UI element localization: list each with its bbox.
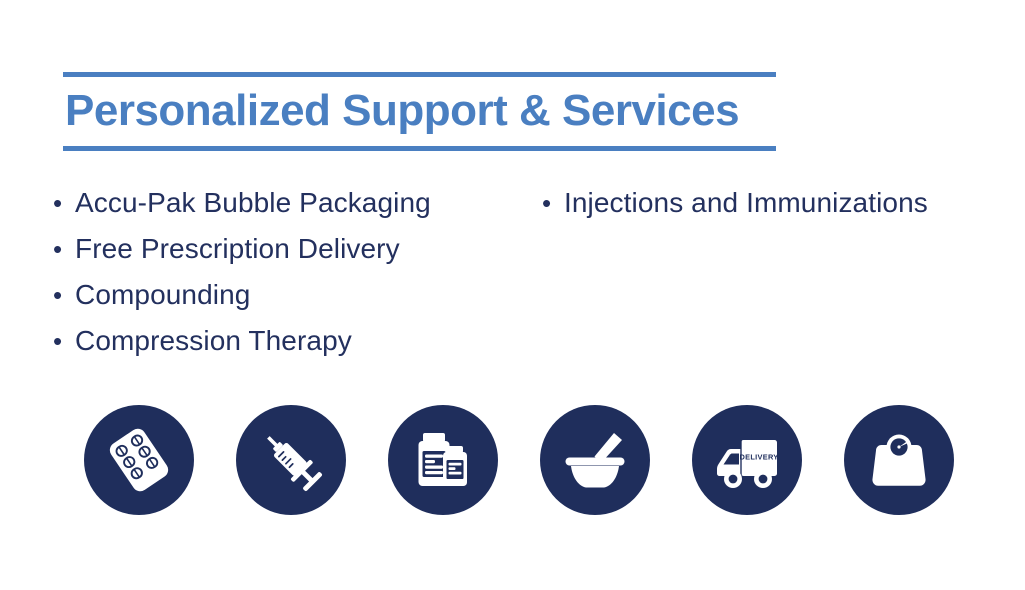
slide-canvas: Personalized Support & Services • Accu-P… (0, 0, 1025, 590)
services-column-left: • Accu-Pak Bubble Packaging • Free Presc… (49, 180, 431, 364)
bullet-marker-icon: • (49, 282, 75, 308)
list-item-label: Injections and Immunizations (564, 180, 928, 226)
list-item: • Accu-Pak Bubble Packaging (49, 180, 431, 226)
list-item-label: Free Prescription Delivery (75, 226, 400, 272)
list-item: • Injections and Immunizations (538, 180, 928, 226)
list-item: • Compounding (49, 272, 431, 318)
services-column-right: • Injections and Immunizations (538, 180, 928, 226)
icon-row: DELIVERY (84, 405, 954, 515)
bullet-marker-icon: • (49, 328, 75, 354)
list-item: • Free Prescription Delivery (49, 226, 431, 272)
page-title: Personalized Support & Services (63, 77, 776, 146)
icon-badge-weight-scale (844, 405, 954, 515)
icon-badge-delivery-truck: DELIVERY (692, 405, 802, 515)
title-block: Personalized Support & Services (63, 72, 776, 151)
syringe-icon (255, 424, 327, 496)
truck-delivery-text: DELIVERY (739, 453, 778, 462)
icon-badge-mortar-pestle (540, 405, 650, 515)
icon-badge-syringe (236, 405, 346, 515)
bullet-marker-icon: • (49, 190, 75, 216)
weight-scale-icon (863, 424, 935, 496)
list-item-label: Compression Therapy (75, 318, 352, 364)
icon-badge-blister-pack (84, 405, 194, 515)
title-rule-bottom (63, 146, 776, 151)
pill-bottles-icon (407, 424, 479, 496)
list-item-label: Compounding (75, 272, 250, 318)
mortar-pestle-icon (559, 424, 631, 496)
bullet-marker-icon: • (538, 190, 564, 216)
bullet-marker-icon: • (49, 236, 75, 262)
list-item-label: Accu-Pak Bubble Packaging (75, 180, 431, 226)
icon-badge-pill-bottles (388, 405, 498, 515)
blister-pack-icon (103, 424, 175, 496)
list-item: • Compression Therapy (49, 318, 431, 364)
delivery-truck-icon: DELIVERY (709, 422, 785, 498)
